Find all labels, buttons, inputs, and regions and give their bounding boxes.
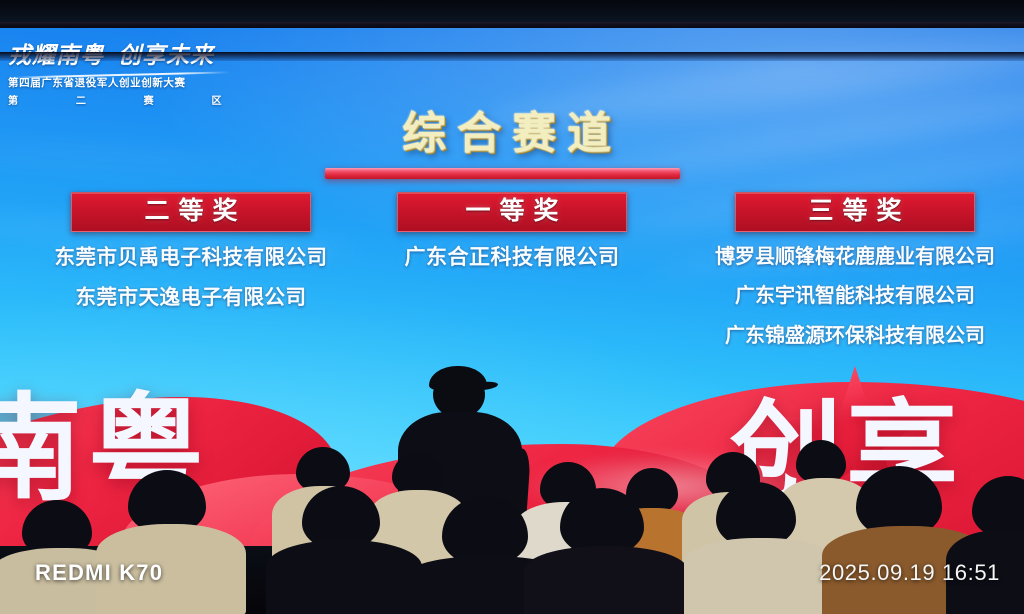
camera-watermark: REDMI K70 bbox=[35, 560, 163, 586]
photograph-of-stage-screen: 南粤 创享未 戎耀南粤 创享未来 第四届广东省退役军人创业创新大赛 第 二 赛 … bbox=[0, 0, 1024, 614]
camera-timestamp: 2025.09.19 16:51 bbox=[819, 560, 1000, 586]
audience-torso bbox=[684, 538, 838, 614]
audience-torso bbox=[524, 546, 688, 614]
screen-top-shadow bbox=[0, 52, 1024, 61]
ceiling-dark-strip bbox=[0, 0, 1024, 22]
audience-foreground bbox=[0, 0, 1024, 614]
audience-head bbox=[972, 476, 1024, 538]
audience-torso bbox=[266, 540, 422, 614]
